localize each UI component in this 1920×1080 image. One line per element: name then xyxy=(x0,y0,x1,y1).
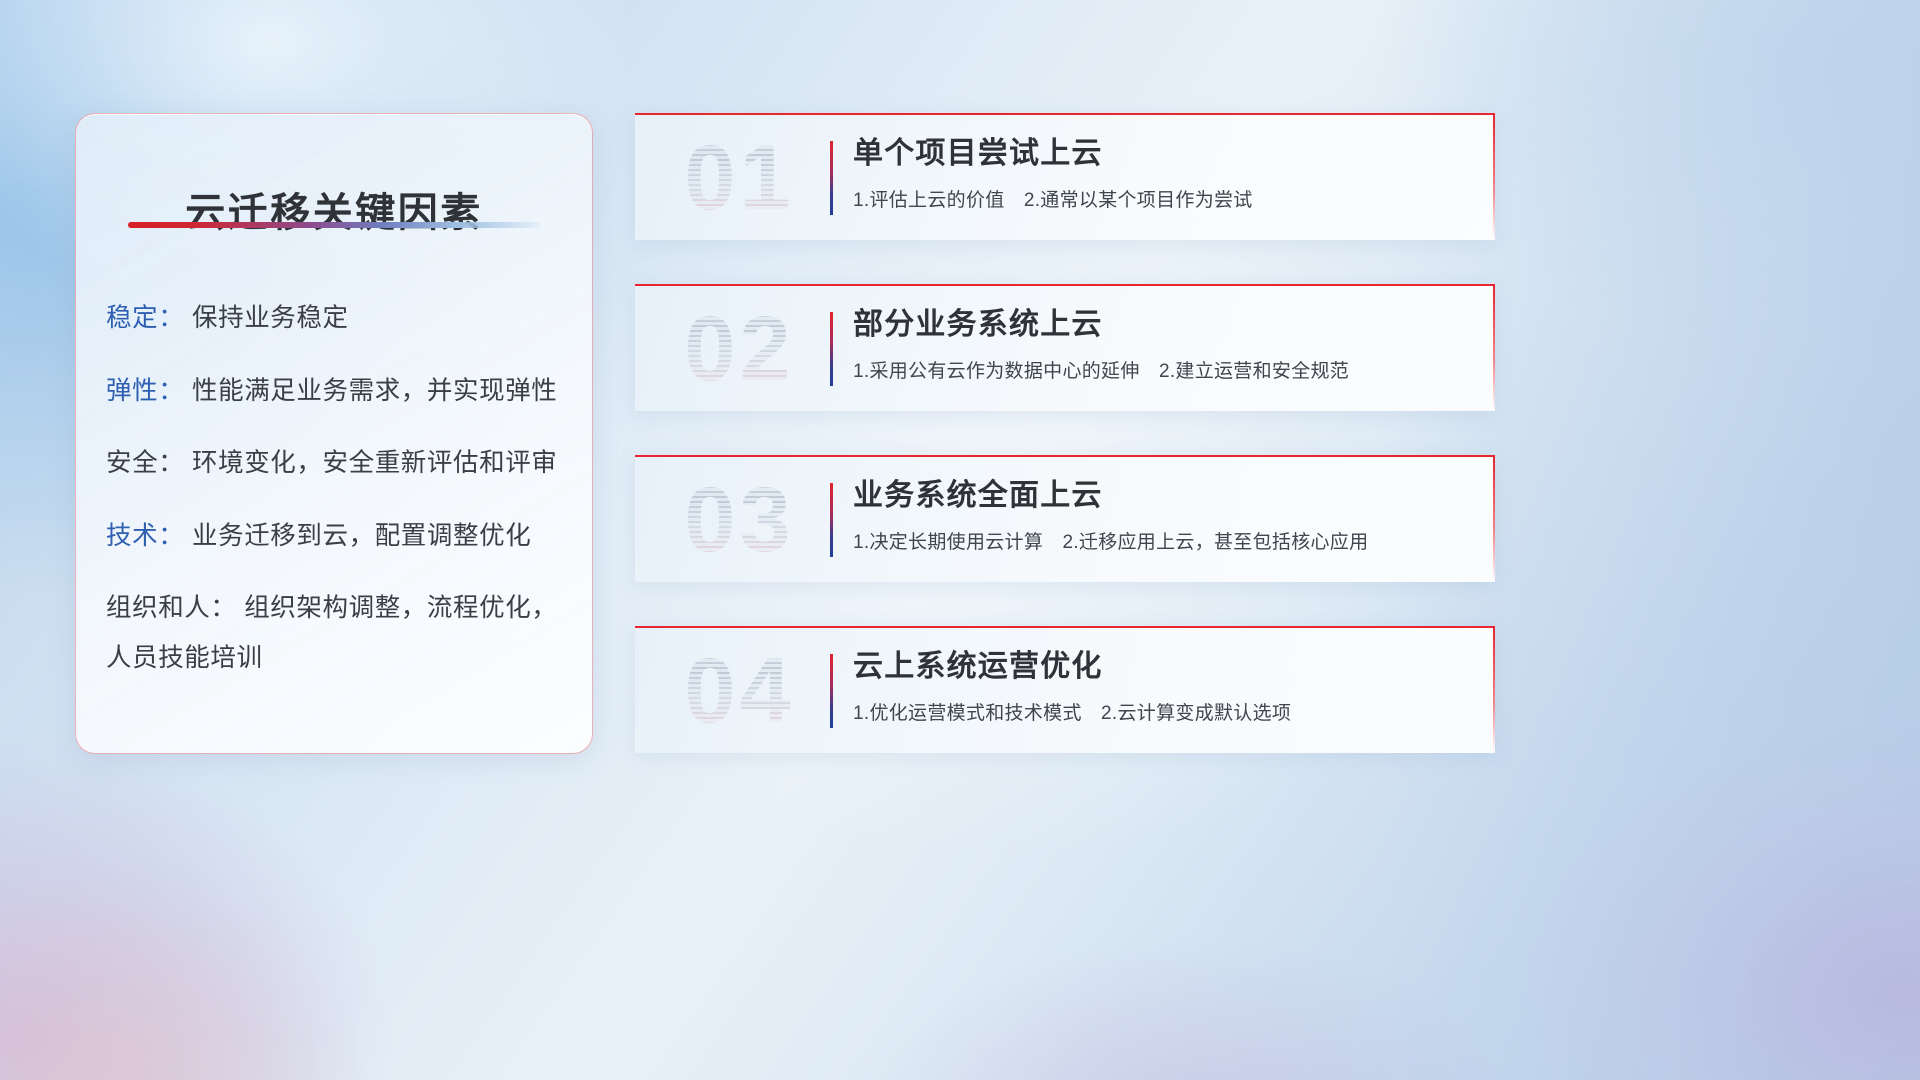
stage-number-text: 04 xyxy=(684,640,794,742)
key-factor-label: 安全： xyxy=(106,449,184,477)
stage-subtitle: 1.决定长期使用云计算 2.迁移应用上云，甚至包括核心应用 xyxy=(853,527,1471,554)
stage-card[interactable]: 03业务系统全面上云1.决定长期使用云计算 2.迁移应用上云，甚至包括核心应用 xyxy=(635,455,1495,582)
key-factor-text: 保持业务稳定 xyxy=(192,304,349,332)
stage-card[interactable]: 04云上系统运营优化1.优化运营模式和技术模式 2.云计算变成默认选项 xyxy=(635,626,1495,753)
stage-card[interactable]: 01单个项目尝试上云1.评估上云的价值 2.通常以某个项目作为尝试 xyxy=(635,113,1495,240)
key-factor-text: 环境变化，安全重新评估和评审 xyxy=(192,449,557,477)
stage-body: 云上系统运营优化1.优化运营模式和技术模式 2.云计算变成默认选项 xyxy=(853,648,1471,725)
stage-subtitle: 1.评估上云的价值 2.通常以某个项目作为尝试 xyxy=(853,185,1471,212)
key-factor-item: 弹性： 性能满足业务需求，并实现弹性 xyxy=(106,379,568,405)
stage-card[interactable]: 02部分业务系统上云1.采用公有云作为数据中心的延伸 2.建立运营和安全规范 xyxy=(635,284,1495,411)
stage-divider-accent xyxy=(830,141,833,215)
stage-body: 业务系统全面上云1.决定长期使用云计算 2.迁移应用上云，甚至包括核心应用 xyxy=(853,477,1471,554)
stage-body: 部分业务系统上云1.采用公有云作为数据中心的延伸 2.建立运营和安全规范 xyxy=(853,306,1471,383)
cloud-migration-stages: 01单个项目尝试上云1.评估上云的价值 2.通常以某个项目作为尝试02部分业务系… xyxy=(635,113,1495,753)
key-factors-panel: 云迁移关键因素 稳定： 保持业务稳定弹性： 性能满足业务需求，并实现弹性安全： … xyxy=(75,113,593,754)
stage-divider-accent xyxy=(830,483,833,557)
stage-number-glyph: 02 xyxy=(657,290,822,408)
title-underline-accent xyxy=(128,222,540,228)
stage-title: 单个项目尝试上云 xyxy=(853,135,1471,173)
stage-number-text: 03 xyxy=(684,469,794,571)
key-factor-text: 性能满足业务需求，并实现弹性 xyxy=(192,377,557,405)
stage-title: 云上系统运营优化 xyxy=(853,648,1471,686)
key-factor-item: 技术： 业务迁移到云，配置调整优化 xyxy=(106,524,568,550)
stage-number-text: 01 xyxy=(684,127,794,229)
key-factor-label: 组织和人： xyxy=(106,594,237,622)
stage-title: 业务系统全面上云 xyxy=(853,477,1471,515)
stage-number-glyph: 01 xyxy=(657,119,822,237)
stage-number-glyph: 03 xyxy=(657,461,822,579)
stage-divider-accent xyxy=(830,312,833,386)
stage-divider-accent xyxy=(830,654,833,728)
panel-title: 云迁移关键因素 xyxy=(76,180,592,238)
key-factors-list: 稳定： 保持业务稳定弹性： 性能满足业务需求，并实现弹性安全： 环境变化，安全重… xyxy=(106,306,568,695)
stage-number-text: 02 xyxy=(684,298,794,400)
key-factor-text: 组织架构调整，流程优化， xyxy=(244,594,557,622)
key-factor-item: 人员技能培训 xyxy=(106,646,568,672)
stage-number-glyph: 04 xyxy=(657,632,822,750)
key-factor-item: 稳定： 保持业务稳定 xyxy=(106,306,568,332)
stage-subtitle: 1.采用公有云作为数据中心的延伸 2.建立运营和安全规范 xyxy=(853,356,1471,383)
stage-title: 部分业务系统上云 xyxy=(853,306,1471,344)
key-factor-label: 稳定： xyxy=(106,304,184,332)
key-factor-label: 弹性： xyxy=(106,377,184,405)
key-factor-label: 技术： xyxy=(106,522,184,550)
key-factor-item: 安全： 环境变化，安全重新评估和评审 xyxy=(106,451,568,477)
key-factor-text: 业务迁移到云，配置调整优化 xyxy=(192,522,531,550)
stage-body: 单个项目尝试上云1.评估上云的价值 2.通常以某个项目作为尝试 xyxy=(853,135,1471,212)
key-factor-item: 组织和人： 组织架构调整，流程优化， xyxy=(106,596,568,622)
stage-subtitle: 1.优化运营模式和技术模式 2.云计算变成默认选项 xyxy=(853,698,1471,725)
key-factor-text: 人员技能培训 xyxy=(106,644,263,672)
